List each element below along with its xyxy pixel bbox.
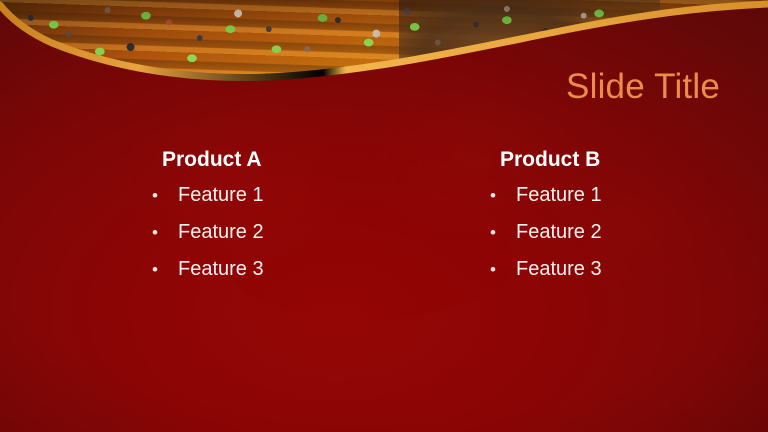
feature-label: Feature 1: [178, 182, 264, 208]
list-item: • Feature 2: [490, 219, 768, 256]
feature-list-product-b: • Feature 1 • Feature 2 • Feature 3: [500, 182, 768, 293]
bullet-icon: •: [152, 257, 178, 283]
column-heading-product-b: Product B: [500, 147, 768, 173]
page-title: Slide Title: [430, 66, 720, 108]
column-product-b: Product B • Feature 1 • Feature 2 • Feat…: [384, 147, 768, 293]
bullet-icon: •: [152, 183, 178, 209]
feature-label: Feature 2: [516, 219, 602, 245]
bullet-icon: •: [490, 183, 516, 209]
feature-label: Feature 3: [516, 256, 602, 282]
feature-label: Feature 3: [178, 256, 264, 282]
feature-list-product-a: • Feature 1 • Feature 2 • Feature 3: [162, 182, 384, 293]
feature-label: Feature 1: [516, 182, 602, 208]
feature-label: Feature 2: [178, 219, 264, 245]
list-item: • Feature 1: [152, 182, 384, 219]
list-item: • Feature 2: [152, 219, 384, 256]
column-product-a: Product A • Feature 1 • Feature 2 • Feat…: [0, 147, 384, 293]
list-item: • Feature 1: [490, 182, 768, 219]
presentation-slide: Slide Title Product A • Feature 1 • Feat…: [0, 0, 768, 432]
list-item: • Feature 3: [490, 256, 768, 293]
bullet-icon: •: [490, 257, 516, 283]
column-heading-product-a: Product A: [162, 147, 384, 173]
bullet-icon: •: [490, 220, 516, 246]
list-item: • Feature 3: [152, 256, 384, 293]
bullet-icon: •: [152, 220, 178, 246]
content-columns: Product A • Feature 1 • Feature 2 • Feat…: [0, 147, 768, 293]
